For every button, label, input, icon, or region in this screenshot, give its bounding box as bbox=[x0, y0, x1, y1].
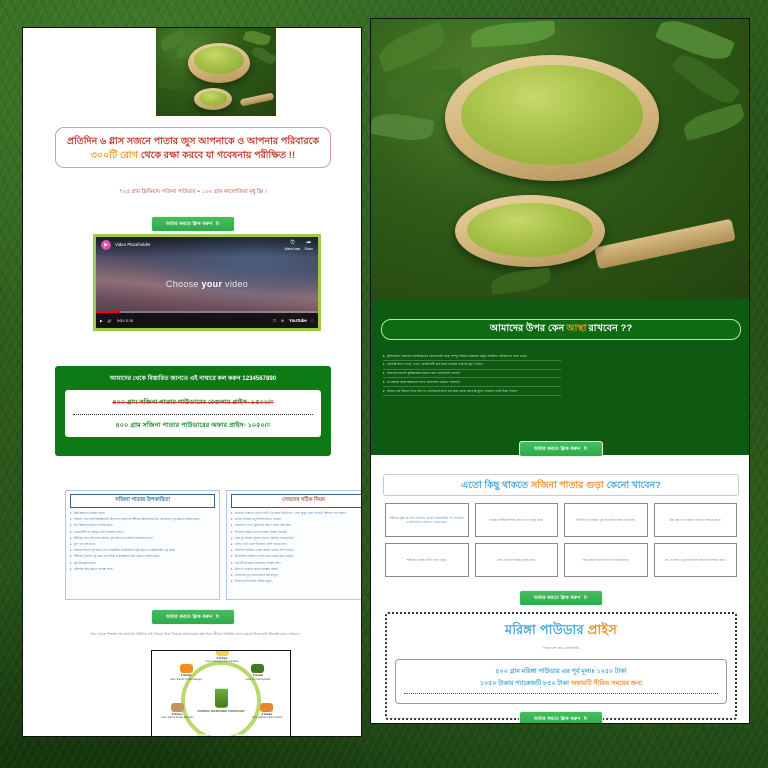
benefit-box-label: গরম করলে তার গুণাগুণ সাহায্য করে। bbox=[582, 558, 629, 562]
infographic-center-title: MORINGA NOURISHING SUPERFOOD bbox=[194, 710, 248, 713]
list-item-label: ঠান্ডা ও শুকনো স্থানে সংরক্ষণ করুন। bbox=[235, 567, 279, 572]
bullet-icon: ▸ bbox=[70, 511, 72, 516]
list-item: ▸ডায়াবেটিস বা বহুমূত্র রোগ নিয়ন্ত্রণে … bbox=[70, 530, 215, 535]
main-headline-box: প্রতিদিন ৬ গ্লাস সজনে পাতার জুস আপনাকে ও… bbox=[55, 127, 331, 168]
channel-avatar-icon: ▶ bbox=[101, 240, 111, 250]
usage-rules-heading: সেবনের সঠিক নিয়ম bbox=[231, 494, 362, 508]
video-top-bar: ▶ Video Placeholder ⏱ Watch later ➦ Shar… bbox=[96, 237, 318, 257]
benefit-box: দীর্ঘদিন ও নিয়মিত খুব সহজেই ব্যবহার করা… bbox=[564, 503, 648, 537]
order-button-label: অর্ডার করতে ক্লিক করুন bbox=[534, 595, 581, 600]
list-item-label: উচ্চ রক্তচাপ নিয়ন্ত্রণ করে। bbox=[74, 511, 105, 516]
benefit-box: রোগ প্রতিরোধ ক্ষমতা বৃদ্ধি করে। bbox=[475, 543, 559, 577]
caption-pre: Choose bbox=[166, 279, 202, 289]
list-item: ▸প্রতিদিন নিয়মিত সেবন করলে ভালো ফল পাবে… bbox=[231, 548, 362, 553]
price-title-pre: মরিঙ্গা পাউডার bbox=[505, 622, 588, 637]
list-item-label: শরীরের দুর্বলতা দূর করে এবং শক্তি ও কর্ম… bbox=[74, 554, 160, 559]
benefit-box-grid: শরীরের সুস্থতার জন্য নিয়মিত ভাবেই প্রয়… bbox=[385, 503, 737, 577]
contact-phone-text: আমাদের থেকে বিস্তারিত জানতে এই নাম্বারে … bbox=[65, 373, 321, 384]
benefit-box-label: ব্রণ, এলার্জি ও চুলের সমস্যা সমাধানে সাহ… bbox=[664, 558, 726, 562]
offer-subline: ৭২৫ গ্রাম ফ্রিমিয়াম সজিনা পাউডার + ১০০ … bbox=[55, 188, 331, 197]
infographic-node: 3 timesmore potassium than bananas bbox=[205, 650, 239, 663]
list-item: ▸শরীরের রোগ প্রতিরোধ ক্ষমতা বৃদ্ধি করে ও… bbox=[70, 536, 215, 541]
infographic-node: 4 timesmore vitamin A than carrots bbox=[250, 703, 284, 719]
video-player-left[interactable]: ▶ Video Placeholder ⏱ Watch later ➦ Shar… bbox=[93, 234, 321, 331]
youtube-brand-label: YouTube bbox=[289, 318, 307, 323]
list-item: ▸সজিনা পাতা অ্যান্টিঅক্সিডেন্ট উপাদানে স… bbox=[70, 517, 215, 522]
list-item-label: চুল পড়া বন্ধ করে। bbox=[74, 542, 96, 547]
order-button-trust[interactable]: অর্ডার করতে ক্লিক করুন↻ bbox=[519, 441, 603, 457]
list-item: ▸ঠান্ডা ও শুকনো স্থানে সংরক্ষণ করুন। bbox=[231, 567, 362, 572]
list-item: ▸বোতলের মুখ ভালোভাবে বন্ধ রাখুন। bbox=[231, 573, 362, 578]
clock-icon: ⏱ bbox=[284, 240, 300, 247]
why-title-part2: সজিনা পাতার গুড়া bbox=[531, 478, 604, 493]
left-page-panel[interactable]: প্রতিদিন ৬ গ্লাস সজনে পাতার জুস আপনাকে ও… bbox=[22, 27, 362, 737]
bullet-icon: ▸ bbox=[70, 567, 72, 572]
node-description: more potassium than bananas bbox=[205, 660, 239, 663]
bullet-icon: ▸ bbox=[231, 530, 233, 535]
benefit-box-label: শরীরের সুস্থতার জন্য নিয়মিত ভাবেই প্রয়… bbox=[389, 516, 465, 524]
node-description: more vitamin C than oranges bbox=[170, 678, 202, 681]
watch-later-label: Watch later bbox=[284, 247, 300, 251]
node-description: more vitamin E than almonds bbox=[161, 716, 193, 719]
list-item: ▸চুল পড়া বন্ধ করে। bbox=[70, 542, 215, 547]
benefit-box: শরীরের সুস্থতার জন্য নিয়মিত ভাবেই প্রয়… bbox=[385, 503, 469, 537]
list-item: ▸শিশুদের নাগালের বাইরে রাখুন। bbox=[231, 579, 362, 584]
green-juice-glass-icon bbox=[215, 689, 228, 708]
benefit-box: গরম করলে তার গুণাগুণ সাহায্য করে। bbox=[564, 543, 648, 577]
offer-price-text: ৪০০ গ্রাম সজিনা পাতার পাউডারের অফার প্রা… bbox=[72, 418, 314, 431]
infographic-node: 3 timesmore vitamin E than almonds bbox=[160, 703, 194, 719]
why-title-part1: এতো কিছু থাকতে bbox=[461, 478, 528, 493]
bullet-icon: ▸ bbox=[383, 354, 385, 359]
benefits-list-items: ▸উচ্চ রক্তচাপ নিয়ন্ত্রণ করে।▸সজিনা পাতা… bbox=[70, 511, 215, 571]
list-item: ▸মুন্সিগঞ্জের পাহাড়ের জৈবিকভাবে কোল্ডগ্… bbox=[383, 352, 561, 361]
benefit-box: উচ্চ রক্ত চাপ নিয়ন্ত্রণ রাখতে সহায়তা ক… bbox=[654, 503, 738, 537]
bullet-icon: ▸ bbox=[231, 579, 233, 584]
share-button[interactable]: ➦ Share bbox=[304, 240, 313, 251]
list-item-label: প্রোডাক্ট হাতে পেয়ে, দেখে, কোয়ালিটি চে… bbox=[387, 362, 483, 367]
why-choose-section-title: এতো কিছু থাকতে সজিনা পাতার গুড়া কেনো খা… bbox=[383, 474, 739, 496]
benefit-box-label: দীর্ঘদিন ও নিয়মিত খুব সহজেই ব্যবহার করা… bbox=[576, 518, 635, 522]
list-item: ▸গর্ভবতী মায়েরা ডাক্তারের পরামর্শ নিন। bbox=[231, 561, 362, 566]
video-timestamp: 0:00 / 0:15 bbox=[117, 319, 133, 323]
usage-rules-items: ▸প্রতিদিন সকালে খালি পেটে ১ চা চামচ পাউড… bbox=[231, 511, 362, 584]
headline-highlight: ৩০০টি রোগ bbox=[91, 149, 138, 160]
video-center-caption: Choose your video bbox=[96, 279, 318, 289]
list-item-label: ত্বক উজ্জ্বল করে। bbox=[74, 561, 96, 566]
benefits-list-heading: সজিনা পাতার উপকারিতা bbox=[70, 494, 215, 508]
refresh-icon: ↻ bbox=[584, 595, 588, 601]
food-swatch-icon bbox=[180, 664, 193, 673]
food-swatch-icon bbox=[251, 664, 264, 673]
list-item: ▸গরম দুধ অথবা জুসের সাথেও মিশিয়ে খাওয়া… bbox=[231, 536, 362, 541]
benefit-box-label: নিয়মিত শরীরের শক্তি যোগান গুণ বৃদ্ধি কর… bbox=[489, 518, 543, 522]
trust-bullet-list: ▸মুন্সিগঞ্জের পাহাড়ের জৈবিকভাবে কোল্ডগ্… bbox=[383, 352, 561, 396]
list-item-label: গর্ভবতী মায়েরা ডাক্তারের পরামর্শ নিন। bbox=[235, 561, 281, 566]
price-row-original: ৫০০ গ্রাম মরিঙ্গা পাউডার এর পূর্ব মূল্যঃ… bbox=[402, 666, 720, 678]
order-cta-wrapper-top: অর্ডার করতে ক্লিক করুন↻ bbox=[55, 212, 331, 232]
order-cta-wrapper-trust: অর্ডার করতে ক্লিক করুন↻ bbox=[471, 437, 651, 457]
moringa-nutrition-infographic: MORINGA NOURISHING SUPERFOOD 3 timesmore… bbox=[151, 650, 291, 737]
list-item: ▸অগ্রিম এক টাকাও দিতে হবে না। ডেলিভারি ম… bbox=[383, 387, 561, 396]
list-item: ▸হাড় ক্ষয়রোধ করতে সাহায্য করে। bbox=[70, 523, 215, 528]
list-item-label: যে কোনো সময় আমাদের সাথে যোগাযোগ করতে পা… bbox=[387, 380, 460, 385]
benefit-box: নিয়মিত শরীরের শক্তি যোগান গুণ বৃদ্ধি কর… bbox=[475, 503, 559, 537]
benefit-box: শরীরের রক্তের ঘাটতি পূরণ করে। bbox=[385, 543, 469, 577]
caption-post: video bbox=[222, 279, 248, 289]
list-item: ▸উচ্চ রক্তচাপ নিয়ন্ত্রণ করে। bbox=[70, 511, 215, 516]
share-label: Share bbox=[304, 247, 313, 251]
list-item-label: সকালে ও রাতে ঘুমানোর আগে সেবন করা যায়। bbox=[235, 523, 292, 528]
trust-title-post: রাখবেন ?? bbox=[589, 322, 633, 337]
list-item: ▸ত্বক উজ্জ্বল করে। bbox=[70, 561, 215, 566]
list-item-label: ডায়াবেটিস বা বহুমূত্র রোগ নিয়ন্ত্রণে র… bbox=[74, 530, 124, 535]
price-row-offer: ১০৫০ টাকার প্যাকেজটি ৮৫০ টাকা অফারটি সীম… bbox=[402, 678, 720, 690]
refresh-icon: ↻ bbox=[584, 446, 588, 452]
list-item: ▸শরীরের দুর্বলতা দূর করে এবং শক্তি ও কর্… bbox=[70, 554, 215, 559]
video-controls-bar[interactable]: ▶ 🔊 0:00 / 0:15 ☐ ⚙ YouTube ⛶ bbox=[96, 313, 318, 328]
play-icon[interactable]: ▶ bbox=[100, 319, 103, 323]
bullet-icon: ▸ bbox=[231, 554, 233, 559]
list-item: ▸দৃষ্টিশক্তি বৃদ্ধি করতে সাহায্য করে। bbox=[70, 567, 215, 572]
video-title: Video Placeholder bbox=[115, 240, 280, 247]
settings-gear-icon[interactable]: ⚙ bbox=[281, 319, 284, 323]
price-card-divider bbox=[404, 693, 718, 694]
price-divider bbox=[73, 414, 313, 415]
benefit-box: ব্রণ, এলার্জি ও চুলের সমস্যা সমাধানে সাহ… bbox=[654, 543, 738, 577]
list-item: ▸শিশুদের ক্ষেত্রে হাফ চা চামচ পরিমাণ যথে… bbox=[231, 530, 362, 535]
bullet-icon: ▸ bbox=[231, 511, 233, 516]
bullet-icon: ▸ bbox=[70, 554, 72, 559]
food-swatch-icon bbox=[171, 703, 184, 712]
list-item: ▸চাইলে সামান্য মধু মিশিয়ে নিতে পারেন। bbox=[231, 517, 362, 522]
order-button-price[interactable]: অর্ডার করতে ক্লিক করুন↻ bbox=[519, 711, 603, 724]
bullet-icon: ▸ bbox=[231, 548, 233, 553]
price-section: মরিঙ্গা পাউডার প্রাইস সারাদেশে হোম ডেলিভ… bbox=[385, 612, 737, 720]
bullet-icon: ▸ bbox=[70, 536, 72, 541]
order-cta-wrapper-price: অর্ডার করতে ক্লিক করুন↻ bbox=[491, 707, 631, 724]
list-item: ▸খালি পেটে খেলে উপকার বেশি পাওয়া যায়। bbox=[231, 542, 362, 547]
list-item: ▸যে কোনো সময় আমাদের সাথে যোগাযোগ করতে প… bbox=[383, 378, 561, 387]
price-section-title: মরিঙ্গা পাউডার প্রাইস bbox=[395, 621, 727, 642]
food-swatch-icon bbox=[260, 703, 273, 712]
trust-section-title: আমাদের উপর কেন আস্থা রাখবেন ?? bbox=[381, 319, 741, 340]
infographic-node: 2 timesmore protein than yogurt bbox=[185, 734, 219, 737]
list-item: ▸হজমের সমস্যা দূর করে এবং পাকস্থলীর কার্… bbox=[70, 548, 215, 553]
list-item-label: হাড় ক্ষয়রোধ করতে সাহায্য করে। bbox=[74, 523, 113, 528]
trust-title-pre: আমাদের উপর কেন bbox=[490, 322, 564, 337]
screenshot-canvas: প্রতিদিন ৬ গ্লাস সজনে পাতার জুস আপনাকে ও… bbox=[0, 0, 768, 768]
bullet-icon: ▸ bbox=[231, 523, 233, 528]
bullet-icon: ▸ bbox=[383, 371, 385, 376]
list-item: ▸প্রোডাক্ট হাতে পেয়ে, দেখে, কোয়ালিটি চ… bbox=[383, 361, 561, 370]
order-button-why[interactable]: অর্ডার করতে ক্লিক করুন↻ bbox=[519, 590, 603, 606]
caption-bold: your bbox=[202, 279, 223, 289]
price-details-card: ৫০০ গ্রাম মরিঙ্গা পাউডার এর পূর্ব মূল্যঃ… bbox=[395, 659, 727, 704]
usage-rules-panel: সেবনের সঠিক নিয়ম ▸প্রতিদিন সকালে খালি প… bbox=[226, 490, 362, 600]
bullet-icon: ▸ bbox=[231, 567, 233, 572]
order-button-label: অর্ডার করতে ক্লিক করুন bbox=[534, 446, 581, 451]
order-button-label: অর্ডার করতে ক্লিক করুন bbox=[166, 614, 213, 619]
bullet-icon: ▸ bbox=[231, 542, 233, 547]
list-item-label: মুন্সিগঞ্জের পাহাড়ের জৈবিকভাবে কোল্ডগ্র… bbox=[387, 354, 527, 359]
moringa-powder-hero-image bbox=[371, 19, 750, 299]
volume-icon[interactable]: 🔊 bbox=[108, 319, 112, 323]
benefit-box-label: রোগ প্রতিরোধ ক্ষমতা বৃদ্ধি করে। bbox=[497, 558, 536, 562]
list-item-label: অগ্রিম এক টাকাও দিতে হবে না। ডেলিভারি ম্… bbox=[387, 389, 518, 394]
order-button-top[interactable]: অর্ডার করতে ক্লিক করুন↻ bbox=[151, 216, 235, 232]
benefits-list-panel: সজিনা পাতার উপকারিতা ▸উচ্চ রক্তচাপ নিয়ন… bbox=[65, 490, 220, 600]
footer-description-text: প্রাচ্য থেকে পাশ্চাত্য সব জায়গায় পরিচি… bbox=[75, 632, 315, 637]
order-cta-wrapper-mid: অর্ডার করতে ক্লিক করুন↻ bbox=[55, 605, 331, 625]
list-item-label: প্রতিদিন নিয়মিত সেবন করলে ভালো ফল পাবেন… bbox=[235, 548, 294, 553]
infographic-node: 7 timesmore vitamin C than oranges bbox=[169, 664, 203, 680]
subtitles-icon[interactable]: ☐ bbox=[273, 319, 276, 323]
refresh-icon: ↻ bbox=[584, 716, 588, 722]
bullet-icon: ▸ bbox=[70, 530, 72, 535]
list-item-label: শিশুদের ক্ষেত্রে হাফ চা চামচ পরিমাণ যথেষ… bbox=[235, 530, 287, 535]
bullet-icon: ▸ bbox=[231, 573, 233, 578]
list-item: ▸সকালে ও রাতে ঘুমানোর আগে সেবন করা যায়। bbox=[231, 523, 362, 528]
headline-text-part2: থেকে রক্ষা করবে যা গবেষনায় পরীক্ষিত !! bbox=[138, 149, 295, 160]
share-icon: ➦ bbox=[304, 240, 313, 247]
bullet-icon: ▸ bbox=[383, 389, 385, 394]
moringa-powder-thumbnail-image bbox=[156, 28, 276, 116]
node-description: more iron than spinach bbox=[245, 678, 270, 681]
infographic-node: 4 timesmore calcium than milk bbox=[225, 734, 259, 737]
list-item: ▸প্রতিদিন সকালে খালি পেটে ১ চা চামচ পাউড… bbox=[231, 511, 362, 516]
list-item-label: বোতলের মুখ ভালোভাবে বন্ধ রাখুন। bbox=[235, 573, 279, 578]
node-description: more vitamin A than carrots bbox=[252, 716, 282, 719]
refresh-icon: ↻ bbox=[216, 614, 220, 620]
list-item-label: খালি পেটে খেলে উপকার বেশি পাওয়া যায়। bbox=[235, 542, 287, 547]
infographic-center: MORINGA NOURISHING SUPERFOOD bbox=[194, 689, 248, 713]
list-item-label: শিশুদের নাগালের বাইরে রাখুন। bbox=[235, 579, 273, 584]
bullet-icon: ▸ bbox=[383, 362, 385, 367]
benefit-box-label: উচ্চ রক্ত চাপ নিয়ন্ত্রণ রাখতে সহায়তা ক… bbox=[669, 518, 721, 522]
list-item: ▸সারা বাংলাদেশে কুরিয়ারের মাধ্যমে হোম ড… bbox=[383, 370, 561, 379]
bullet-icon: ▸ bbox=[70, 542, 72, 547]
contact-and-price-box: আমাদের থেকে বিস্তারিত জানতে এই নাম্বারে … bbox=[55, 366, 331, 456]
list-item-label: সজিনা পাতা অ্যান্টিঅক্সিডেন্ট উপাদানে সম… bbox=[74, 517, 200, 522]
refresh-icon: ↻ bbox=[216, 221, 220, 227]
offer-limited-note: অফারটি সীমিত সময়ের জন্য bbox=[571, 680, 642, 687]
watch-later-button[interactable]: ⏱ Watch later bbox=[284, 240, 300, 251]
infographic-node: 7 timesmore iron than spinach bbox=[241, 664, 275, 680]
trust-title-highlight: আস্থা bbox=[566, 322, 586, 337]
list-item-label: গরম দুধ অথবা জুসের সাথেও মিশিয়ে খাওয়া … bbox=[235, 536, 294, 541]
list-item-label: দৃষ্টিশক্তি বৃদ্ধি করতে সাহায্য করে। bbox=[74, 567, 114, 572]
price-section-subtitle: সারাদেশে হোম ডেলিভারি bbox=[395, 645, 727, 652]
order-cta-wrapper-why: অর্ডার করতে ক্লিক করুন↻ bbox=[481, 586, 641, 606]
fullscreen-icon[interactable]: ⛶ bbox=[312, 319, 314, 323]
food-swatch-icon bbox=[235, 734, 248, 737]
price-card: ৪০০ গ্রাম সজিনা পাতার পাউডারের রেগুলার প… bbox=[65, 390, 321, 437]
offer-price-pre: ১০৫০ টাকার প্যাকেজটি ৮৫০ টাকা bbox=[480, 680, 571, 687]
order-button-mid[interactable]: অর্ডার করতে ক্লিক করুন↻ bbox=[151, 609, 235, 625]
list-item-label: শরীরের রোগ প্রতিরোধ ক্ষমতা বৃদ্ধি করে ও … bbox=[74, 536, 153, 541]
list-item-label: সারা বাংলাদেশে কুরিয়ারের মাধ্যমে হোম ডে… bbox=[387, 371, 460, 376]
bullet-icon: ▸ bbox=[231, 517, 233, 522]
right-page-panel[interactable]: আমাদের উপর কেন আস্থা রাখবেন ?? ▸মুন্সিগঞ… bbox=[370, 18, 750, 724]
order-button-label: অর্ডার করতে ক্লিক করুন bbox=[534, 716, 581, 721]
list-item-label: হজমের সমস্যা দূর করে এবং পাকস্থলীর কার্য… bbox=[74, 548, 176, 553]
price-title-highlight: প্রাইস bbox=[588, 622, 617, 637]
bullet-icon: ▸ bbox=[231, 536, 233, 541]
bullet-icon: ▸ bbox=[70, 548, 72, 553]
why-title-part3: কেনো খাবেন? bbox=[607, 478, 661, 493]
bullet-icon: ▸ bbox=[383, 380, 385, 385]
food-swatch-icon bbox=[196, 734, 209, 737]
list-item-label: চাইলে সামান্য মধু মিশিয়ে নিতে পারেন। bbox=[235, 517, 282, 522]
bullet-icon: ▸ bbox=[70, 517, 72, 522]
list-item-label: অতিরিক্ত পরিমাণে সেবন করা থেকে বিরত থাকু… bbox=[235, 554, 294, 559]
bullet-icon: ▸ bbox=[231, 561, 233, 566]
bullet-icon: ▸ bbox=[70, 523, 72, 528]
list-item-label: প্রতিদিন সকালে খালি পেটে ১ চা চামচ পাউডা… bbox=[235, 511, 346, 516]
benefit-box-label: শরীরের রক্তের ঘাটতি পূরণ করে। bbox=[407, 558, 447, 562]
headline-text-part1: প্রতিদিন ৬ গ্লাস সজনে পাতার জুস আপনাকে ও… bbox=[67, 135, 319, 146]
order-button-label: অর্ডার করতে ক্লিক করুন bbox=[166, 221, 213, 226]
list-item: ▸অতিরিক্ত পরিমাণে সেবন করা থেকে বিরত থাক… bbox=[231, 554, 362, 559]
bullet-icon: ▸ bbox=[70, 561, 72, 566]
regular-price-text: ৪০০ গ্রাম সজিনা পাতার পাউডারের রেগুলার প… bbox=[72, 396, 314, 411]
